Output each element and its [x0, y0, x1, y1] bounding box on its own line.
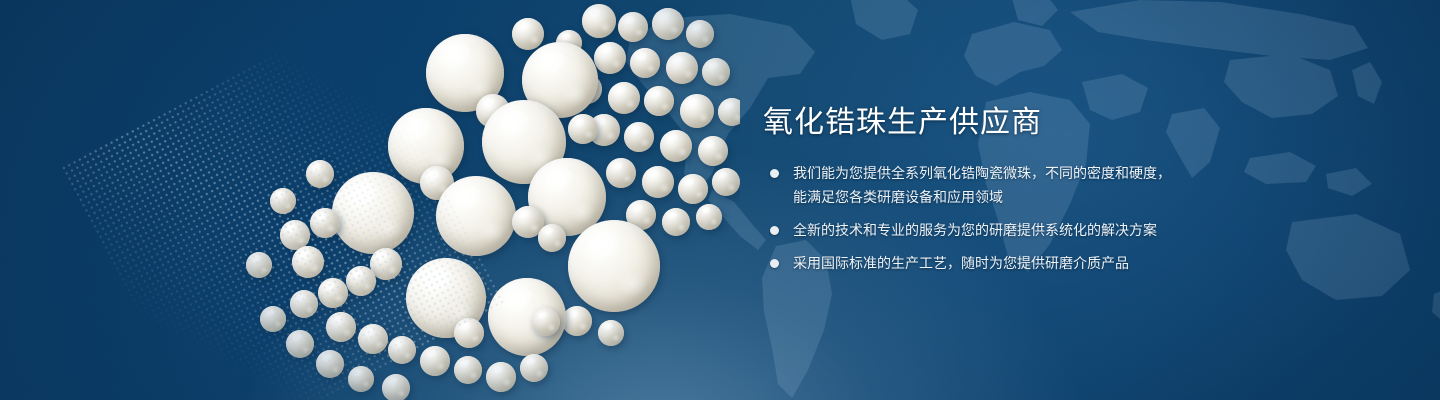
page-title: 氧化锆珠生产供应商: [763, 106, 1363, 139]
bullet-text-line1: 全新的技术和专业的服务为您的研磨提供系统化的解决方案: [793, 222, 1157, 238]
bullet-dot-icon: [770, 226, 779, 235]
bullet-text-line1: 采用国际标准的生产工艺，随时为您提供研磨介质产品: [793, 255, 1129, 271]
bullet-text-line1: 我们能为您提供全系列氧化锆陶瓷微珠，不同的密度和硬度，: [793, 165, 1171, 181]
list-item: 我们能为您提供全系列氧化锆陶瓷微珠，不同的密度和硬度， 能满足您各类研磨设备和应…: [763, 161, 1363, 209]
feature-bullet-list: 我们能为您提供全系列氧化锆陶瓷微珠，不同的密度和硬度， 能满足您各类研磨设备和应…: [763, 161, 1363, 275]
bullet-dot-icon: [770, 169, 779, 178]
list-item: 全新的技术和专业的服务为您的研磨提供系统化的解决方案: [763, 218, 1363, 242]
bullet-dot-icon: [770, 259, 779, 268]
banner-copy: 氧化锆珠生产供应商 我们能为您提供全系列氧化锆陶瓷微珠，不同的密度和硬度， 能满…: [763, 106, 1363, 275]
list-item: 采用国际标准的生产工艺，随时为您提供研磨介质产品: [763, 251, 1363, 275]
product-hero-banner: 氧化锆珠生产供应商 我们能为您提供全系列氧化锆陶瓷微珠，不同的密度和硬度， 能满…: [0, 0, 1440, 400]
bullet-text-line2: 能满足您各类研磨设备和应用领域: [793, 185, 1363, 209]
